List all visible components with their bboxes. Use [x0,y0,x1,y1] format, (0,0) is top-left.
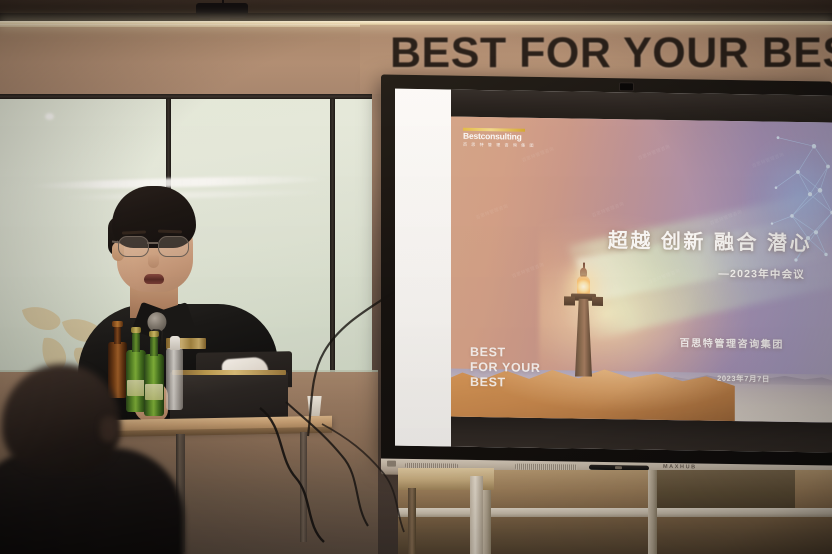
audience-ear [100,416,118,442]
logo-word-best: Best [463,131,481,141]
cable-to-display [300,290,420,440]
watermark: 百思特管理咨询 [751,152,785,170]
presenter-nose [148,254,159,268]
logo-wordmark: Bestconsulting [463,131,525,142]
track-spotlight-icon [196,3,248,18]
bottle-neck [114,326,121,344]
logo-chinese-subtitle: 百 思 特 管 理 咨 询 集 团 [463,142,521,148]
glass-mullion-horizontal [0,94,372,99]
bottle-neck [150,336,158,356]
best-consulting-logo: Bestconsulting 百 思 特 管 理 咨 询 集 团 [463,128,525,150]
slide-tagline: BEST FOR YOUR BEST [470,345,541,391]
presentation-slide[interactable]: 百思特管理咨询 百思特管理咨询 百思特管理咨询 百思特管理咨询 百思特管理咨询 … [451,117,832,423]
cabinet-shelf [398,508,832,517]
watermark: 百思特管理咨询 [521,146,555,164]
cabinet-divider-2 [648,470,657,554]
eyeglasses-icon [118,236,192,256]
lens-right [158,236,189,257]
watermark: 百思特管理咨询 [511,262,545,280]
tagline-line-2: FOR YOUR [470,360,541,376]
watermark: 百思特管理咨询 [709,209,743,227]
presentation-room-photo: BEST FOR YOUR BEST [0,0,832,554]
linear-led-light-secondary [0,24,360,27]
display-stand-pole [470,476,483,554]
cabinet-open-compartment [655,470,795,508]
slide-subtitle: —2023年中会议 [718,266,805,282]
watermark: 百思特管理咨询 [637,144,671,162]
lens-left [118,236,149,257]
camera-icon [619,82,634,91]
tagline-line-1: BEST [470,345,541,361]
glass-highlight-spot [45,113,54,120]
watermark: 百思特管理咨询 [475,203,509,221]
spray-nozzle-icon [170,336,180,350]
slide-title: 超越 创新 融合 潜心 [608,224,812,256]
wall-slogan-text: BEST FOR YOUR BEST [390,29,832,78]
bottle-neck [132,332,140,352]
bottle-cap [112,321,123,327]
bottle-cap [149,331,159,337]
glasses-bridge [147,242,158,244]
powerpoint-bottom-bar[interactable] [451,417,832,453]
presenter-mouth [144,274,164,284]
logo-word-consulting: consulting [481,131,522,142]
foreground-audience-member [0,364,202,554]
tagline-line-3: BEST [470,375,541,391]
bottle-cap [131,327,141,333]
display-screen[interactable]: 百思特管理咨询 百思特管理咨询 百思特管理咨询 百思特管理咨询 百思特管理咨询 … [395,89,832,453]
maxhub-interactive-display[interactable]: 百思特管理咨询 百思特管理咨询 百思特管理咨询 百思特管理咨询 百思特管理咨询 … [381,74,832,479]
watermark: 百思特管理咨询 [591,201,625,219]
slide-date: 2023年7月7日 [717,373,770,385]
watermark: 百思特管理咨询 [647,268,681,286]
slide-organization: 百思特管理咨询集团 [680,334,784,351]
